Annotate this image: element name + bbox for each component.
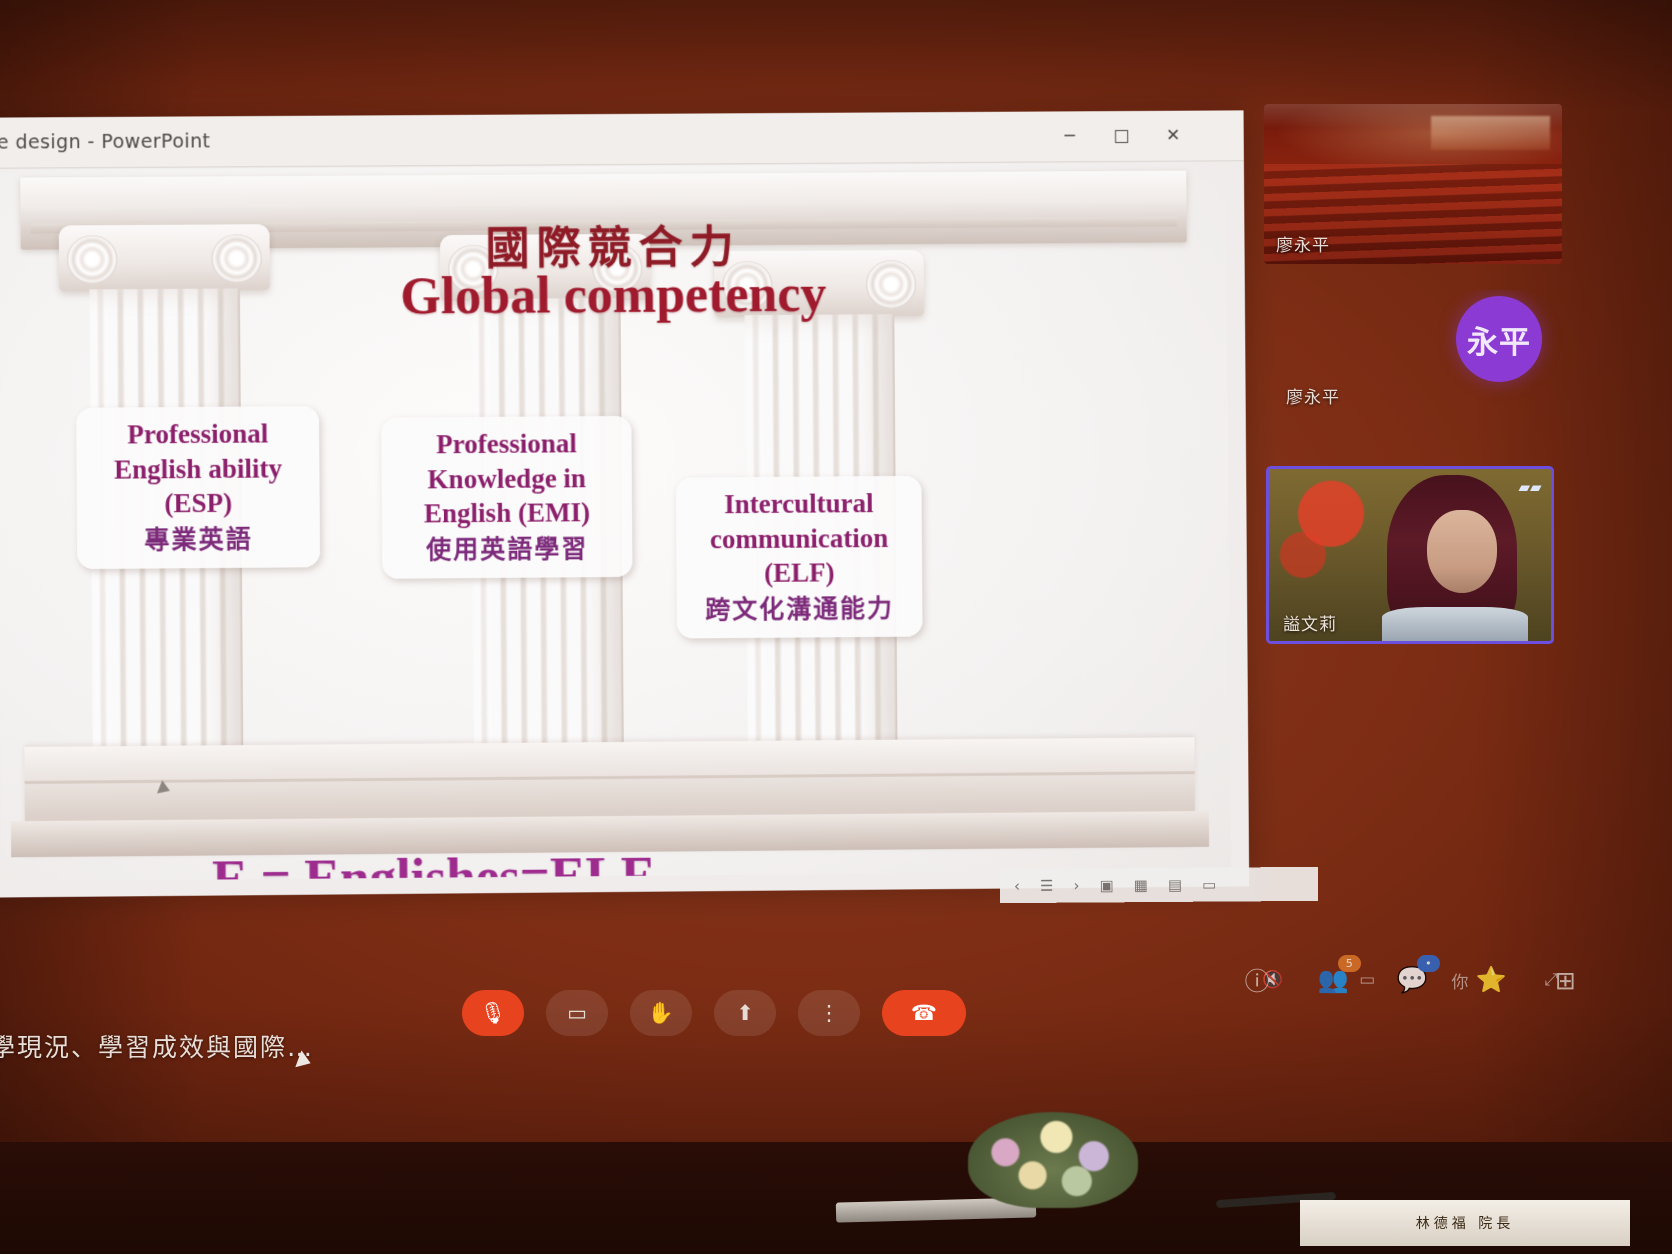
pillar-callout-2-english: Professional Knowledge in English (EMI) <box>395 426 618 531</box>
pillar-callout-3-english: Intercultural communication (ELF) <box>690 486 908 591</box>
share-screen-button[interactable]: ⬆ <box>714 990 776 1036</box>
video-tile-active-speaker[interactable]: ▰▰ 謚文莉 <box>1266 466 1554 644</box>
camera-button[interactable]: ▭ <box>546 990 608 1036</box>
end-call-button[interactable]: ☎ <box>882 990 966 1036</box>
video-tile-name: 廖永平 <box>1286 383 1340 408</box>
previous-slide-button[interactable]: ‹ <box>1014 877 1020 895</box>
reading-view-button[interactable]: ▤ <box>1168 876 1182 894</box>
hall-stage-area <box>1431 116 1550 150</box>
meeting-subject-caption: 學現況、學習成效與國際… <box>0 1028 314 1064</box>
shared-powerpoint-window: urse design - PowerPoint ─ □ ✕ <box>0 110 1249 897</box>
pillar-callout-2: Professional Knowledge in English (EMI) … <box>381 416 632 579</box>
speaker-torso <box>1382 607 1529 641</box>
next-slide-button[interactable]: › <box>1073 877 1079 895</box>
temple-base-graphic <box>24 737 1195 857</box>
slide-formula-text: E = Englishes=ELF <box>212 846 653 882</box>
chat-icon[interactable]: 💬 • <box>1397 965 1428 995</box>
pillar-callout-1-english: Professional English ability (ESP) <box>90 416 305 521</box>
desk-nameplate: 林德福 院長 <box>1300 1200 1630 1246</box>
flower-bouquet <box>968 1112 1138 1208</box>
powerpoint-status-bar: ‹ ☰ › ▣ ▦ ▤ ▭ <box>1000 867 1318 903</box>
pillar-callout-2-chinese: 使用英語學習 <box>396 533 618 567</box>
video-meeting-window: urse design - PowerPoint ─ □ ✕ <box>0 96 1580 1076</box>
raise-hand-button[interactable]: ✋ <box>630 990 692 1036</box>
reactions-icon[interactable]: ⭐ <box>1476 965 1507 995</box>
participants-icon[interactable]: 👥 5 <box>1318 965 1349 995</box>
slideshow-button[interactable]: ▭ <box>1202 876 1216 894</box>
slide-title-english: Global competency <box>0 262 1227 329</box>
pillar-callout-3-chinese: 跨文化溝通能力 <box>691 592 909 626</box>
video-tile-name: 謚文莉 <box>1283 610 1337 635</box>
video-tile-avatar[interactable]: 永平 廖永平 🔇 <box>1264 290 1562 440</box>
more-options-button[interactable]: ⋮ <box>798 990 860 1036</box>
avatar: 永平 <box>1456 296 1542 382</box>
video-tile-name: 廖永平 <box>1276 231 1330 256</box>
window-title: urse design - PowerPoint <box>0 130 210 153</box>
microphone-button[interactable]: 🎙 <box>462 990 524 1036</box>
pillar-callout-1: Professional English ability (ESP) 專業英語 <box>76 406 320 569</box>
participants-count-badge: 5 <box>1338 955 1361 972</box>
slide-sorter-button[interactable]: ▦ <box>1134 876 1148 894</box>
video-tile-auditorium[interactable]: 廖永平 🔇 <box>1264 104 1562 264</box>
chat-unread-badge: • <box>1417 955 1440 972</box>
pillar-callout-3: Intercultural communication (ELF) 跨文化溝通能… <box>676 476 923 638</box>
meeting-side-icons: ⓘ 👥 5 💬 • ⭐ ⊞ <box>1245 962 1576 998</box>
maximize-button[interactable]: □ <box>1098 121 1144 151</box>
slide-canvas[interactable]: 國際競合力 Global competency Professional Eng… <box>0 162 1231 881</box>
close-button[interactable]: ✕ <box>1150 121 1196 151</box>
participant-video-rail: 廖永平 🔇 永平 廖永平 🔇 ▰▰ 謚文莉 <box>1244 96 1574 662</box>
outline-view-button[interactable]: ☰ <box>1040 877 1054 895</box>
meeting-info-icon[interactable]: ⓘ <box>1245 962 1270 998</box>
speaking-indicator-icon: ▰▰ <box>1517 477 1543 497</box>
room-podium: 林德福 院長 <box>0 1142 1672 1254</box>
powerpoint-titlebar: urse design - PowerPoint ─ □ ✕ <box>0 110 1244 168</box>
meeting-control-bar: 🎙 ▭ ✋ ⬆ ⋮ ☎ <box>462 990 966 1036</box>
minimize-button[interactable]: ─ <box>1046 121 1092 151</box>
speaker-face <box>1427 510 1498 593</box>
apps-icon[interactable]: ⊞ <box>1555 966 1576 995</box>
normal-view-button[interactable]: ▣ <box>1099 876 1113 894</box>
pillar-callout-1-chinese: 專業英語 <box>91 523 306 557</box>
